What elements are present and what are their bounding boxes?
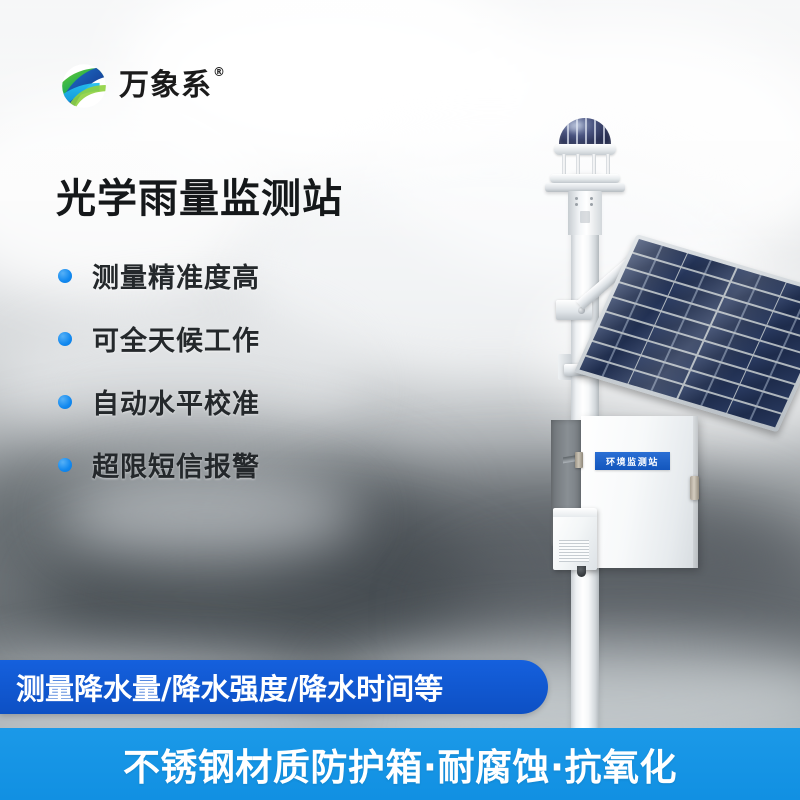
feature-list: 测量精准度高 可全天候工作 自动水平校准 超限短信报警 bbox=[58, 258, 388, 510]
bottom-tagline-text: 不锈钢材质防护箱·耐腐蚀·抗氧化 bbox=[123, 737, 677, 791]
measurement-banner-text: 测量降水量/降水强度/降水时间等 bbox=[16, 666, 443, 708]
list-item: 自动水平校准 bbox=[58, 384, 388, 419]
bullet-dot-icon bbox=[58, 332, 72, 346]
sphere-swoosh-logo-icon bbox=[58, 60, 110, 112]
list-item: 测量精准度高 bbox=[58, 258, 388, 293]
list-item: 超限短信报警 bbox=[58, 447, 388, 482]
bottom-tagline-bar: 不锈钢材质防护箱·耐腐蚀·抗氧化 bbox=[0, 728, 800, 800]
sensor-support-post bbox=[562, 154, 566, 176]
brand-lockup: 万象系 ® bbox=[58, 60, 212, 112]
bullet-dot-icon bbox=[58, 395, 72, 409]
brand-name: 万象系 ® bbox=[119, 71, 212, 101]
solar-cell-grid bbox=[580, 239, 800, 427]
sensor-collar-plate bbox=[550, 174, 620, 183]
battery-box-lid bbox=[553, 508, 597, 517]
bullet-dot-icon bbox=[58, 458, 72, 472]
measurement-banner: 测量降水量/降水强度/降水时间等 bbox=[0, 660, 548, 714]
enclosure-door: 环境监测站 bbox=[581, 416, 698, 568]
enclosure-nameplate: 环境监测站 bbox=[595, 452, 670, 470]
enclosure-latch bbox=[690, 476, 699, 500]
feature-label: 测量精准度高 bbox=[92, 256, 260, 295]
stainless-steel-enclosure: 环境监测站 bbox=[551, 416, 698, 568]
product-poster: 环境监测站 bbox=[0, 0, 800, 800]
feature-label: 可全天候工作 bbox=[92, 319, 260, 358]
list-item: 可全天候工作 bbox=[58, 321, 388, 356]
solar-panel-assembly bbox=[556, 216, 786, 406]
battery-box-louvers bbox=[559, 540, 589, 562]
sensor-support-post bbox=[606, 154, 610, 176]
cable-gland bbox=[577, 566, 586, 577]
bullet-dot-icon bbox=[58, 269, 72, 283]
registered-trademark-icon: ® bbox=[213, 66, 226, 78]
feature-label: 超限短信报警 bbox=[92, 445, 260, 484]
solar-panel bbox=[574, 234, 800, 432]
sensor-support-post bbox=[576, 154, 580, 176]
page-title: 光学雨量监测站 bbox=[56, 166, 343, 224]
vented-battery-box bbox=[553, 508, 597, 570]
optical-rain-sensor bbox=[538, 118, 632, 228]
enclosure-hinge bbox=[575, 452, 583, 468]
feature-label: 自动水平校准 bbox=[92, 382, 260, 421]
enclosure-label-text: 环境监测站 bbox=[606, 455, 659, 468]
sensor-support-post bbox=[592, 154, 596, 176]
